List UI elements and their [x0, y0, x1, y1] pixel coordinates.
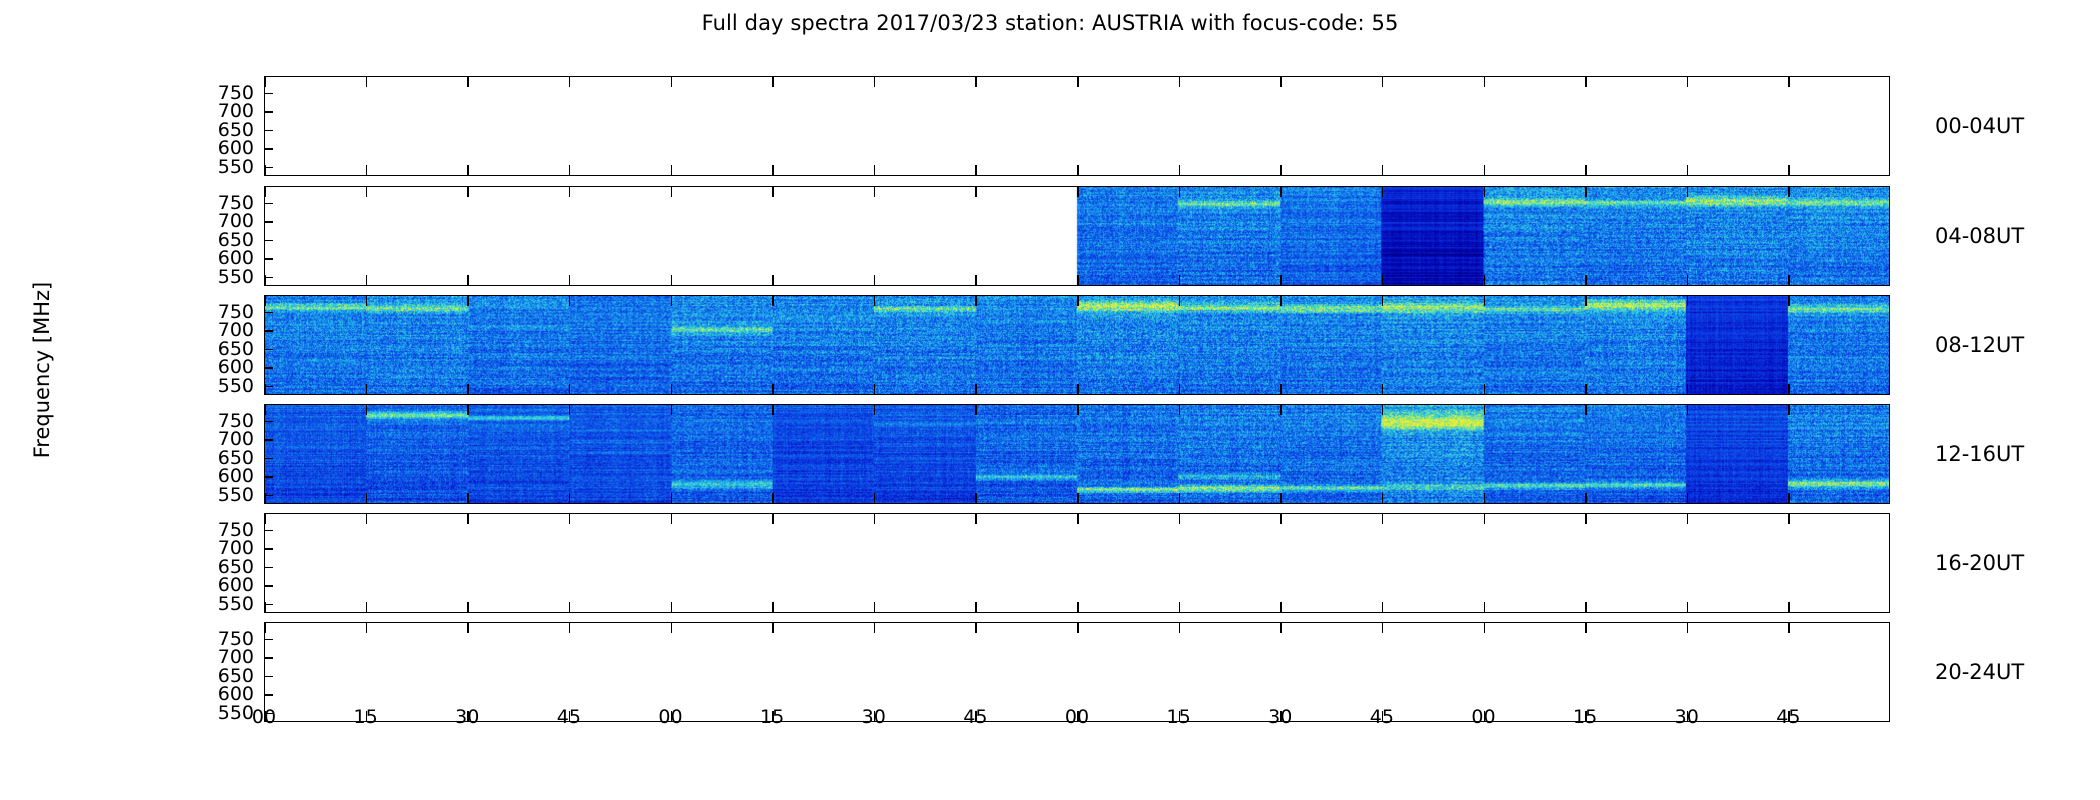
x-tick-mark [1687, 602, 1689, 613]
x-tick-mark [1484, 165, 1486, 176]
y-tick-mark [264, 585, 273, 587]
y-tick-mark [264, 567, 273, 569]
x-tick-mark [1382, 404, 1384, 415]
x-tick-mark [569, 404, 571, 415]
x-tick-mark [1687, 513, 1689, 524]
x-tick-mark [1687, 404, 1689, 415]
x-tick-mark [1280, 404, 1282, 415]
x-tick-mark [1077, 275, 1079, 286]
x-tick-mark [1687, 384, 1689, 395]
x-tick-mark [1788, 275, 1790, 286]
spectrogram-image [265, 77, 1889, 175]
x-tick-mark [1382, 384, 1384, 395]
y-tick-mark [264, 221, 273, 223]
x-tick-mark [1382, 513, 1384, 524]
x-tick-mark [569, 602, 571, 613]
x-tick-mark [1280, 275, 1282, 286]
x-tick-mark [772, 513, 774, 524]
row-time-label: 04-08UT [1935, 224, 2024, 248]
x-tick-label: 45 [1370, 706, 1394, 728]
y-tick-mark [264, 530, 273, 532]
x-tick-mark [1788, 513, 1790, 524]
x-tick-mark [467, 384, 469, 395]
x-tick-mark [671, 165, 673, 176]
x-tick-mark [1484, 186, 1486, 197]
x-tick-mark [1179, 186, 1181, 197]
row-time-label: 12-16UT [1935, 442, 2024, 466]
spectrogram-panel [264, 76, 1890, 176]
x-tick-mark [1077, 404, 1079, 415]
x-tick-mark [874, 165, 876, 176]
x-tick-mark [671, 513, 673, 524]
x-tick-mark [1280, 76, 1282, 87]
x-tick-label: 15 [760, 706, 784, 728]
x-tick-mark [1585, 513, 1587, 524]
x-tick-mark [874, 76, 876, 87]
x-tick-mark [467, 493, 469, 504]
x-tick-mark [264, 186, 266, 197]
x-tick-mark [1788, 602, 1790, 613]
x-tick-mark [1077, 165, 1079, 176]
x-tick-label: 30 [1675, 706, 1699, 728]
row-time-label: 20-24UT [1935, 660, 2024, 684]
x-tick-mark [569, 295, 571, 306]
x-tick-mark [975, 493, 977, 504]
y-tick-mark [264, 203, 273, 205]
figure-title: Full day spectra 2017/03/23 station: AUS… [0, 11, 2100, 35]
x-tick-label: 00 [658, 706, 682, 728]
x-tick-mark [1484, 384, 1486, 395]
x-tick-mark [772, 76, 774, 87]
y-tick-label: 550 [198, 266, 254, 288]
x-tick-mark [671, 275, 673, 286]
y-tick-mark [264, 367, 273, 369]
x-tick-mark [874, 404, 876, 415]
spectrogram-image [265, 187, 1889, 285]
x-tick-label: 30 [862, 706, 886, 728]
x-tick-mark [975, 275, 977, 286]
x-tick-mark [671, 602, 673, 613]
x-tick-mark [1585, 622, 1587, 633]
x-tick-mark [772, 384, 774, 395]
x-tick-mark [467, 404, 469, 415]
y-tick-mark [264, 458, 273, 460]
x-tick-mark [1280, 622, 1282, 633]
y-axis-label: Frequency [MHz] [30, 240, 54, 500]
row-time-label: 00-04UT [1935, 114, 2024, 138]
x-tick-label: 30 [1268, 706, 1292, 728]
x-tick-mark [366, 404, 368, 415]
x-tick-mark [1788, 622, 1790, 633]
x-tick-mark [1077, 295, 1079, 306]
x-tick-mark [975, 186, 977, 197]
x-tick-mark [1382, 76, 1384, 87]
x-tick-mark [569, 622, 571, 633]
x-tick-mark [874, 622, 876, 633]
x-tick-mark [569, 275, 571, 286]
x-tick-mark [1382, 493, 1384, 504]
x-tick-mark [1687, 76, 1689, 87]
y-tick-label: 550 [198, 156, 254, 178]
y-tick-mark [264, 349, 273, 351]
x-tick-mark [569, 186, 571, 197]
x-tick-mark [1077, 384, 1079, 395]
x-tick-mark [772, 165, 774, 176]
y-tick-mark [264, 148, 273, 150]
x-tick-mark [1687, 186, 1689, 197]
x-tick-mark [569, 384, 571, 395]
x-tick-mark [874, 275, 876, 286]
x-tick-label: 30 [455, 706, 479, 728]
x-tick-mark [1788, 493, 1790, 504]
x-tick-mark [1179, 493, 1181, 504]
x-tick-mark [264, 295, 266, 306]
y-tick-mark [264, 439, 273, 441]
x-tick-mark [1687, 295, 1689, 306]
x-tick-mark [264, 622, 266, 633]
x-tick-mark [874, 602, 876, 613]
x-tick-mark [366, 384, 368, 395]
x-tick-mark [1280, 186, 1282, 197]
row-time-label: 16-20UT [1935, 551, 2024, 575]
x-tick-mark [1585, 76, 1587, 87]
x-tick-mark [975, 165, 977, 176]
x-tick-mark [1788, 165, 1790, 176]
x-tick-mark [1382, 602, 1384, 613]
x-tick-mark [975, 513, 977, 524]
x-tick-mark [772, 295, 774, 306]
x-tick-mark [1585, 384, 1587, 395]
x-tick-label: 15 [354, 706, 378, 728]
x-tick-mark [264, 275, 266, 286]
x-tick-mark [264, 602, 266, 613]
y-tick-mark [264, 548, 273, 550]
x-tick-mark [467, 295, 469, 306]
x-tick-mark [772, 275, 774, 286]
x-tick-mark [772, 622, 774, 633]
x-tick-mark [975, 404, 977, 415]
spectrogram-panel [264, 186, 1890, 286]
spectrogram-image [265, 296, 1889, 394]
x-tick-mark [671, 295, 673, 306]
x-tick-mark [671, 493, 673, 504]
y-tick-mark [264, 639, 273, 641]
x-tick-mark [975, 76, 977, 87]
x-tick-mark [671, 384, 673, 395]
y-tick-mark [264, 312, 273, 314]
spectrogram-panel [264, 513, 1890, 613]
y-tick-mark [264, 476, 273, 478]
x-tick-mark [366, 513, 368, 524]
x-tick-mark [1585, 404, 1587, 415]
x-tick-mark [366, 602, 368, 613]
x-tick-mark [467, 275, 469, 286]
x-tick-mark [1179, 404, 1181, 415]
y-tick-mark [264, 240, 273, 242]
y-tick-mark [264, 421, 273, 423]
x-tick-mark [1077, 622, 1079, 633]
x-tick-mark [1585, 295, 1587, 306]
x-tick-label: 00 [1065, 706, 1089, 728]
x-tick-mark [1077, 76, 1079, 87]
x-tick-label: 15 [1167, 706, 1191, 728]
x-tick-mark [975, 622, 977, 633]
y-tick-label: 550 [198, 484, 254, 506]
x-tick-mark [1179, 602, 1181, 613]
x-tick-mark [1280, 493, 1282, 504]
x-tick-mark [366, 76, 368, 87]
x-tick-mark [1077, 602, 1079, 613]
spectrogram-figure: Full day spectra 2017/03/23 station: AUS… [0, 0, 2100, 800]
x-tick-mark [569, 165, 571, 176]
x-tick-mark [671, 404, 673, 415]
x-tick-mark [1484, 404, 1486, 415]
x-tick-mark [264, 404, 266, 415]
x-tick-mark [467, 513, 469, 524]
x-tick-label: 00 [252, 706, 276, 728]
x-tick-mark [467, 602, 469, 613]
x-tick-mark [366, 493, 368, 504]
x-tick-mark [1077, 186, 1079, 197]
x-tick-mark [467, 76, 469, 87]
y-tick-mark [264, 130, 273, 132]
y-tick-mark [264, 330, 273, 332]
x-tick-mark [1788, 384, 1790, 395]
x-tick-mark [1179, 513, 1181, 524]
x-tick-mark [1788, 295, 1790, 306]
x-tick-mark [1077, 493, 1079, 504]
x-tick-mark [1484, 622, 1486, 633]
x-tick-mark [975, 384, 977, 395]
x-tick-mark [569, 493, 571, 504]
x-tick-mark [1179, 76, 1181, 87]
x-tick-mark [975, 295, 977, 306]
x-tick-mark [1687, 622, 1689, 633]
x-tick-mark [1585, 275, 1587, 286]
spectrogram-panel [264, 404, 1890, 504]
x-tick-mark [874, 493, 876, 504]
x-tick-label: 45 [1776, 706, 1800, 728]
x-tick-mark [874, 186, 876, 197]
x-tick-mark [1484, 76, 1486, 87]
x-tick-mark [264, 76, 266, 87]
x-tick-mark [264, 493, 266, 504]
x-tick-mark [874, 295, 876, 306]
row-time-label: 08-12UT [1935, 333, 2024, 357]
x-tick-mark [772, 493, 774, 504]
x-tick-mark [1280, 165, 1282, 176]
x-tick-label: 45 [963, 706, 987, 728]
x-tick-mark [1382, 622, 1384, 633]
x-tick-mark [772, 602, 774, 613]
x-tick-label: 15 [1573, 706, 1597, 728]
x-tick-mark [1585, 165, 1587, 176]
x-tick-mark [1687, 165, 1689, 176]
x-tick-mark [264, 384, 266, 395]
x-tick-label: 00 [1471, 706, 1495, 728]
y-tick-mark [264, 111, 273, 113]
x-tick-mark [467, 622, 469, 633]
x-tick-mark [1484, 513, 1486, 524]
x-tick-mark [1484, 275, 1486, 286]
x-tick-mark [366, 275, 368, 286]
x-tick-mark [1280, 384, 1282, 395]
x-tick-mark [671, 622, 673, 633]
spectrogram-image [265, 405, 1889, 503]
x-tick-mark [1179, 275, 1181, 286]
x-tick-mark [569, 513, 571, 524]
x-tick-mark [1687, 275, 1689, 286]
x-tick-mark [1382, 165, 1384, 176]
y-tick-mark [264, 657, 273, 659]
x-tick-mark [366, 622, 368, 633]
y-tick-mark [264, 694, 273, 696]
y-tick-label: 550 [198, 593, 254, 615]
x-tick-mark [772, 404, 774, 415]
x-tick-mark [366, 295, 368, 306]
y-tick-mark [264, 258, 273, 260]
x-tick-mark [1179, 295, 1181, 306]
x-tick-mark [671, 76, 673, 87]
x-tick-mark [1788, 186, 1790, 197]
x-tick-mark [1687, 493, 1689, 504]
x-tick-mark [366, 186, 368, 197]
x-tick-mark [569, 76, 571, 87]
y-tick-mark [264, 93, 273, 95]
x-tick-mark [1484, 602, 1486, 613]
x-tick-mark [1484, 493, 1486, 504]
x-tick-mark [772, 186, 774, 197]
x-tick-mark [467, 186, 469, 197]
y-tick-label: 550 [198, 375, 254, 397]
spectrogram-image [265, 514, 1889, 612]
y-tick-mark [264, 676, 273, 678]
x-tick-mark [1484, 295, 1486, 306]
x-tick-mark [264, 165, 266, 176]
x-tick-mark [1585, 602, 1587, 613]
x-tick-mark [264, 513, 266, 524]
x-tick-mark [1382, 186, 1384, 197]
spectrogram-panel [264, 295, 1890, 395]
x-tick-mark [1788, 76, 1790, 87]
x-tick-mark [1179, 165, 1181, 176]
x-tick-label: 45 [557, 706, 581, 728]
x-tick-mark [1382, 295, 1384, 306]
y-tick-label: 550 [198, 702, 254, 724]
x-tick-mark [1077, 513, 1079, 524]
x-tick-mark [874, 384, 876, 395]
x-tick-mark [1280, 295, 1282, 306]
x-tick-mark [1585, 186, 1587, 197]
x-tick-mark [874, 513, 876, 524]
x-tick-mark [1280, 602, 1282, 613]
x-tick-mark [1179, 384, 1181, 395]
x-tick-mark [671, 186, 673, 197]
x-tick-mark [1788, 404, 1790, 415]
x-tick-mark [1585, 493, 1587, 504]
x-tick-mark [1382, 275, 1384, 286]
x-tick-mark [366, 165, 368, 176]
x-tick-mark [467, 165, 469, 176]
x-tick-mark [1179, 622, 1181, 633]
x-tick-mark [975, 602, 977, 613]
x-tick-mark [1280, 513, 1282, 524]
